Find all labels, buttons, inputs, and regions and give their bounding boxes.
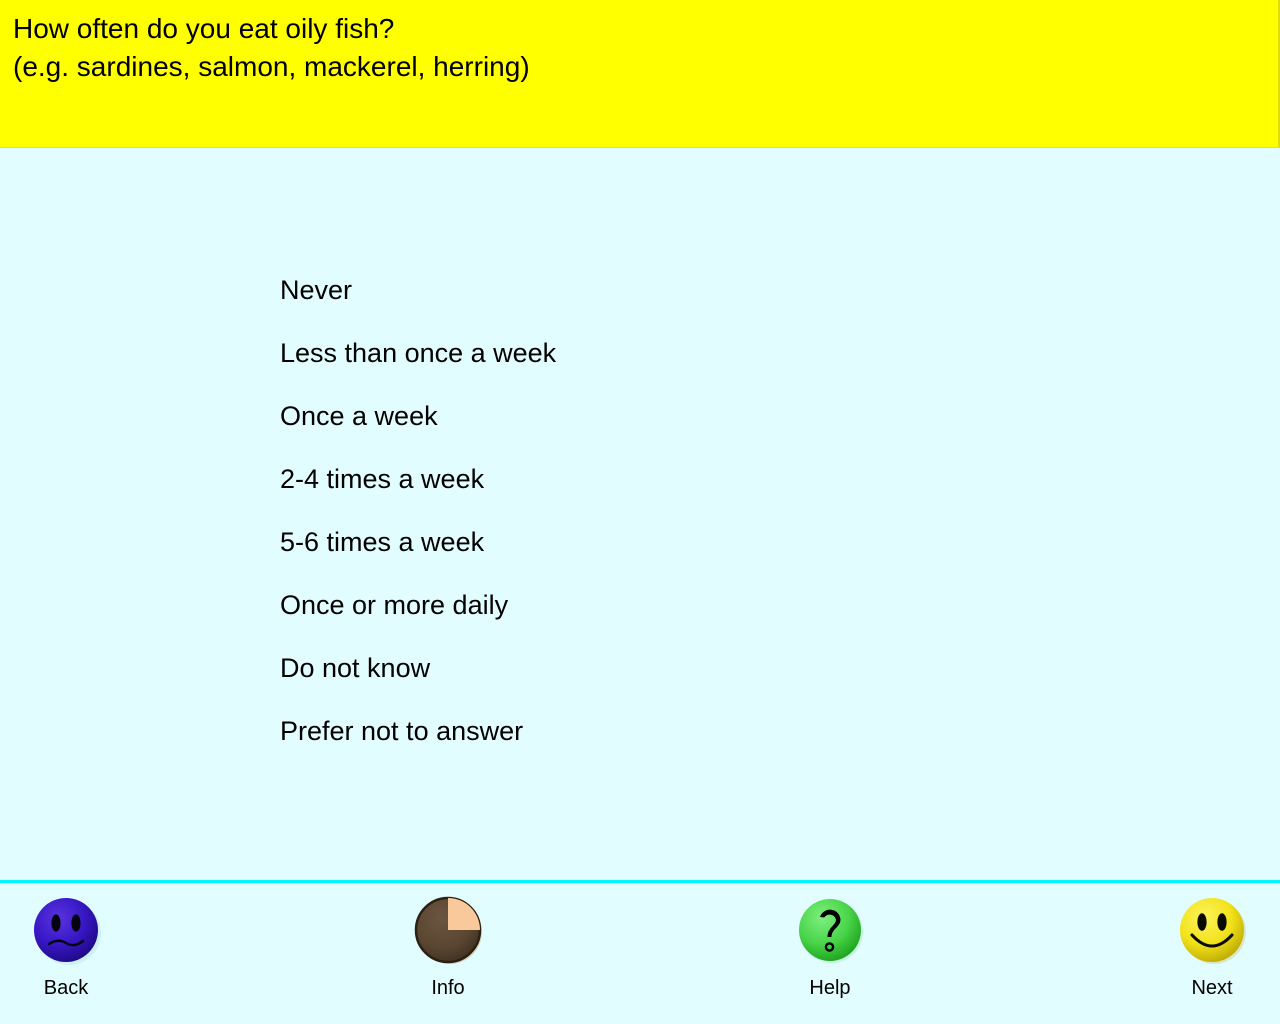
answer-option-prefer-not-to-answer[interactable]: Prefer not to answer	[280, 711, 556, 774]
back-button[interactable]: Back	[0, 893, 136, 999]
answer-area: Never Less than once a week Once a week …	[0, 148, 1280, 882]
bottom-toolbar: Back Info	[0, 883, 1280, 1024]
info-button-label: Info	[378, 977, 518, 999]
answer-option-do-not-know[interactable]: Do not know	[280, 648, 556, 711]
answer-option-once-a-week[interactable]: Once a week	[280, 396, 556, 459]
smiley-face-icon	[1175, 893, 1249, 967]
answer-option-5-6-times-a-week[interactable]: 5-6 times a week	[280, 522, 556, 585]
answer-option-less-than-once-a-week[interactable]: Less than once a week	[280, 333, 556, 396]
back-button-label: Back	[0, 977, 136, 999]
question-mark-icon	[793, 893, 867, 967]
question-banner: How often do you eat oily fish? (e.g. sa…	[0, 0, 1280, 148]
answer-option-once-or-more-daily[interactable]: Once or more daily	[280, 585, 556, 648]
next-button[interactable]: Next	[1142, 893, 1280, 999]
question-text-line-2: (e.g. sardines, salmon, mackerel, herrin…	[13, 52, 530, 82]
help-button-label: Help	[760, 977, 900, 999]
answer-option-list: Never Less than once a week Once a week …	[280, 270, 556, 774]
info-button[interactable]: Info	[378, 893, 518, 999]
help-button[interactable]: Help	[760, 893, 900, 999]
pie-chart-icon	[411, 893, 485, 967]
answer-option-never[interactable]: Never	[280, 270, 556, 333]
answer-option-2-4-times-a-week[interactable]: 2-4 times a week	[280, 459, 556, 522]
sad-face-icon	[29, 893, 103, 967]
question-text-line-1: How often do you eat oily fish?	[13, 14, 394, 44]
next-button-label: Next	[1142, 977, 1280, 999]
